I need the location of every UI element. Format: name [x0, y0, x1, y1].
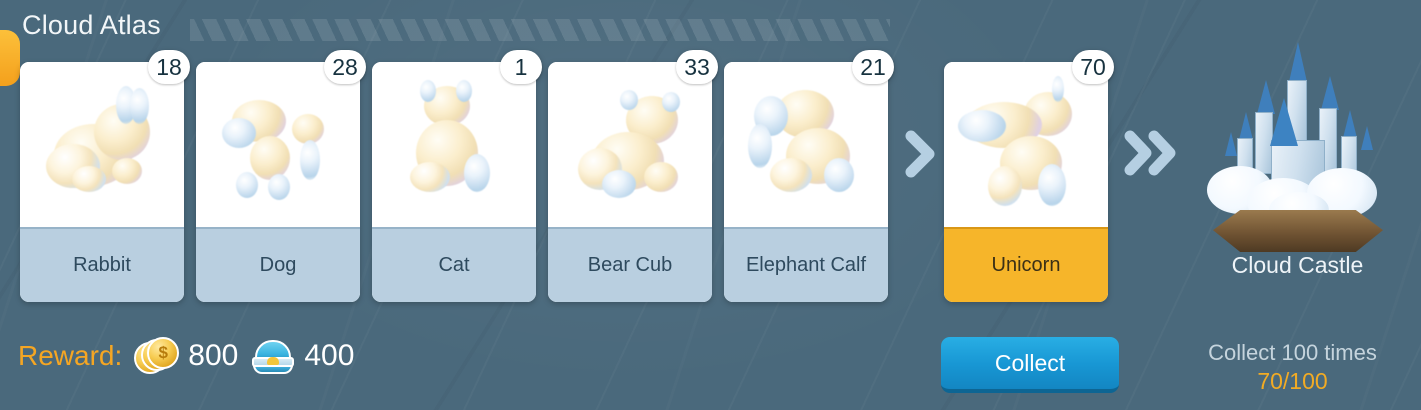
- progress-block: Collect 100 times 70/100: [1180, 340, 1405, 395]
- castle-base: [1213, 210, 1383, 252]
- reward-row: Reward: $ 800 400: [18, 337, 354, 375]
- reward-value-caps: 400: [304, 339, 354, 373]
- creature-card-label: Bear Cub: [548, 227, 712, 302]
- creature-card-dog[interactable]: Dog 28: [196, 62, 360, 302]
- reward-label: Reward:: [18, 340, 122, 372]
- creature-count-badge: 70: [1072, 50, 1114, 84]
- reward-item-caps: 400: [250, 337, 354, 375]
- creature-card-unicorn[interactable]: Unicorn 70: [944, 62, 1108, 302]
- progress-description: Collect 100 times: [1180, 340, 1405, 366]
- creature-count-badge: 1: [500, 50, 542, 84]
- creature-art-cat: [372, 62, 536, 227]
- creature-card-label: Rabbit: [20, 227, 184, 302]
- chevron-double-right-icon: [1122, 128, 1182, 178]
- creature-count-badge: 33: [676, 50, 718, 84]
- page-title: Cloud Atlas: [22, 10, 161, 41]
- creature-art-rabbit: [20, 62, 184, 227]
- creature-card-label: Elephant Calf: [724, 227, 888, 302]
- reward-item-coins: $ 800: [134, 337, 238, 375]
- creature-art-bear-cub: [548, 62, 712, 227]
- header-stripe-decoration: [190, 19, 890, 41]
- creature-card-cat[interactable]: Cat 1: [372, 62, 536, 302]
- goal-reward[interactable]: Cloud Castle: [1195, 40, 1400, 300]
- creature-art-elephant-calf: [724, 62, 888, 227]
- reward-value-coins: 800: [188, 339, 238, 373]
- creature-card-bear-cub[interactable]: Bear Cub 33: [548, 62, 712, 302]
- creature-card-elephant-calf[interactable]: Elephant Calf 21: [724, 62, 888, 302]
- creature-art-unicorn: [944, 62, 1108, 227]
- creature-card-label: Dog: [196, 227, 360, 302]
- creature-card-rabbit[interactable]: Rabbit 18: [20, 62, 184, 302]
- coin-icon: $: [134, 337, 180, 375]
- creature-card-label: Cat: [372, 227, 536, 302]
- cloud-atlas-panel: Cloud Atlas Rabbit: [0, 0, 1421, 410]
- creature-art-dog: [196, 62, 360, 227]
- creature-count-badge: 28: [324, 50, 366, 84]
- creature-count-badge: 21: [852, 50, 894, 84]
- progress-count: 70/100: [1180, 368, 1405, 395]
- captain-cap-icon: [250, 337, 296, 375]
- chevron-right-icon: [903, 130, 937, 178]
- creature-count-badge: 18: [148, 50, 190, 84]
- collect-button[interactable]: Collect: [941, 337, 1119, 393]
- cloud-castle-icon: [1195, 40, 1400, 255]
- goal-label: Cloud Castle: [1195, 252, 1400, 279]
- creature-card-label: Unicorn: [944, 227, 1108, 302]
